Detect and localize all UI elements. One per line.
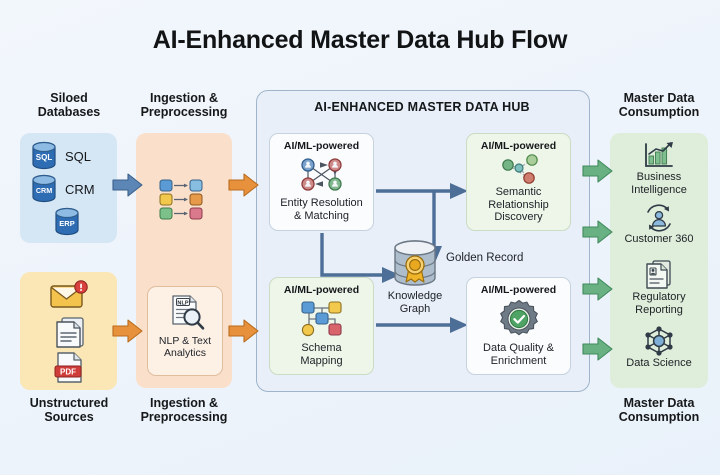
card-label-line1: Semantic xyxy=(488,186,549,199)
list-item-label-line1: Business xyxy=(631,171,687,184)
document-text-icon[interactable] xyxy=(53,316,87,352)
knowledge-graph-label-line2: Graph xyxy=(375,303,455,316)
consumption-caption-bottom: Master Data Consumption xyxy=(603,396,715,424)
ingestion-caption-top: Ingestion & Preprocessing xyxy=(127,91,241,119)
consumption-caption-bottom-line1: Master Data xyxy=(603,396,715,410)
database-cylinder-icon: CRM xyxy=(30,174,58,204)
knowledge-graph-label: Knowledge Graph xyxy=(375,290,455,315)
ingestion-preprocessing-panel: NLP NLP & Text Analytics xyxy=(136,133,232,388)
unstructured-sources-caption: Unstructured Sources xyxy=(14,396,124,424)
list-item-label-line2: Intelligence xyxy=(631,184,687,197)
page-title: AI-Enhanced Master Data Hub Flow xyxy=(0,26,720,55)
list-item[interactable]: ERP xyxy=(53,207,81,237)
card-data-quality-enrichment[interactable]: AI/ML-powered Data Quality & Enrichment xyxy=(466,277,571,375)
arrow-hub-to-regulatory-reporting xyxy=(583,276,613,302)
diagram-canvas: AI-Enhanced Master Data Hub Flow Siloed … xyxy=(0,0,720,475)
arrow-hub-to-data-science xyxy=(583,336,613,362)
card-label-line2: Relationship xyxy=(488,199,549,212)
card-ai-tag: AI/ML-powered xyxy=(284,284,359,296)
list-item[interactable]: Customer 360 xyxy=(610,203,708,246)
card-entity-resolution-label: Entity Resolution & Matching xyxy=(280,197,363,222)
arrow-hub-to-business-intelligence xyxy=(583,158,613,184)
card-label-line1: Data Quality & xyxy=(483,342,554,355)
schema-mapping-nodes-icon xyxy=(296,299,348,339)
card-label-line1: Schema xyxy=(300,342,342,355)
ingestion-caption-top-line1: Ingestion & xyxy=(127,91,241,105)
svg-text:NLP: NLP xyxy=(177,300,188,306)
list-item-label: CRM xyxy=(65,182,95,197)
unstructured-sources-caption-line1: Unstructured xyxy=(14,396,124,410)
siloed-databases-caption: Siloed Databases xyxy=(14,91,124,119)
consumption-caption-top-line1: Master Data xyxy=(603,91,715,105)
database-cylinder-icon: ERP xyxy=(53,207,81,237)
list-item[interactable]: Regulatory Reporting xyxy=(610,259,708,316)
gear-check-icon xyxy=(499,299,539,339)
entity-matching-network-icon xyxy=(295,155,349,195)
card-semantic-label: Semantic Relationship Discovery xyxy=(488,186,549,224)
arrow-ingestion-to-hub-top xyxy=(229,172,259,198)
card-ai-tag: AI/ML-powered xyxy=(481,284,556,296)
email-envelope-icon[interactable] xyxy=(49,280,89,312)
list-item[interactable]: CRM CRM xyxy=(30,174,95,204)
card-label-line3: Discovery xyxy=(488,211,549,224)
unstructured-sources-panel: PDF xyxy=(20,272,117,390)
knowledge-graph-label-line1: Knowledge xyxy=(375,290,455,303)
list-item-label: Data Science xyxy=(626,357,691,370)
siloed-databases-caption-line2: Databases xyxy=(14,105,124,119)
list-item-label: Customer 360 xyxy=(624,233,693,246)
nlp-text-analytics-card[interactable]: NLP NLP & Text Analytics xyxy=(147,286,223,376)
customer-360-icon xyxy=(642,203,676,233)
semantic-graph-icon xyxy=(496,154,542,184)
golden-record-annotation: Golden Record xyxy=(446,252,523,264)
regulatory-document-icon xyxy=(642,259,676,291)
svg-text:CRM: CRM xyxy=(36,186,52,195)
card-ai-tag: AI/ML-powered xyxy=(481,140,556,152)
card-schema-mapping[interactable]: AI/ML-powered Schema Mapping xyxy=(269,277,374,375)
card-ai-tag: AI/ML-powered xyxy=(284,140,359,152)
pdf-file-icon[interactable]: PDF xyxy=(53,351,87,385)
consumption-caption-top-line2: Consumption xyxy=(603,105,715,119)
card-label-line1: Entity Resolution xyxy=(280,197,363,210)
card-schema-mapping-label: Schema Mapping xyxy=(300,342,342,367)
list-item[interactable]: Business Intelligence xyxy=(610,141,708,196)
svg-text:PDF: PDF xyxy=(60,367,76,376)
consumption-caption-top: Master Data Consumption xyxy=(603,91,715,119)
card-label-line2: Enrichment xyxy=(483,355,554,368)
ingestion-caption-bottom: Ingestion & Preprocessing xyxy=(127,396,241,424)
list-item-label: Regulatory Reporting xyxy=(632,291,685,316)
database-cylinder-icon: SQL xyxy=(30,141,58,171)
card-label-line2: Mapping xyxy=(300,355,342,368)
list-item-label-line1: Customer 360 xyxy=(624,233,693,246)
list-item-label-line2: Reporting xyxy=(632,304,685,317)
svg-text:SQL: SQL xyxy=(36,153,53,162)
ingestion-caption-top-line2: Preprocessing xyxy=(127,105,241,119)
data-science-network-icon xyxy=(642,325,676,357)
bar-chart-trend-icon xyxy=(642,141,676,171)
card-semantic-relationship-discovery[interactable]: AI/ML-powered Semantic Relationship Disc… xyxy=(466,133,571,231)
list-item-label: SQL xyxy=(65,149,91,164)
ingestion-caption-bottom-line2: Preprocessing xyxy=(127,410,241,424)
golden-record-database-icon[interactable] xyxy=(385,240,445,290)
card-entity-resolution[interactable]: AI/ML-powered xyxy=(269,133,374,231)
list-item[interactable]: Data Science xyxy=(610,325,708,370)
nlp-magnifier-document-icon: NLP xyxy=(167,294,205,332)
card-data-quality-label: Data Quality & Enrichment xyxy=(483,342,554,367)
nlp-text-analytics-label: NLP & Text Analytics xyxy=(148,335,222,359)
ingestion-caption-bottom-line1: Ingestion & xyxy=(127,396,241,410)
consumption-caption-bottom-line2: Consumption xyxy=(603,410,715,424)
arrow-databases-to-ingestion xyxy=(113,172,143,198)
master-data-consumption-panel: Business Intelligence Customer xyxy=(610,133,708,388)
list-item-label: Business Intelligence xyxy=(631,171,687,196)
nlp-label-line1: NLP & Text xyxy=(148,335,222,347)
card-label-line2: & Matching xyxy=(280,210,363,223)
data-pipeline-nodes-icon[interactable] xyxy=(158,178,210,220)
list-item-label-line1: Data Science xyxy=(626,357,691,370)
arrow-unstructured-to-ingestion xyxy=(113,318,143,344)
list-item-label-line1: Regulatory xyxy=(632,291,685,304)
arrow-ingestion-to-hub-bottom xyxy=(229,318,259,344)
siloed-databases-caption-line1: Siloed xyxy=(14,91,124,105)
arrow-hub-to-customer-360 xyxy=(583,219,613,245)
siloed-databases-panel: SQL SQL CRM CRM xyxy=(20,133,117,243)
list-item[interactable]: SQL SQL xyxy=(30,141,91,171)
unstructured-sources-caption-line2: Sources xyxy=(14,410,124,424)
svg-text:ERP: ERP xyxy=(59,219,74,228)
nlp-label-line2: Analytics xyxy=(148,347,222,359)
